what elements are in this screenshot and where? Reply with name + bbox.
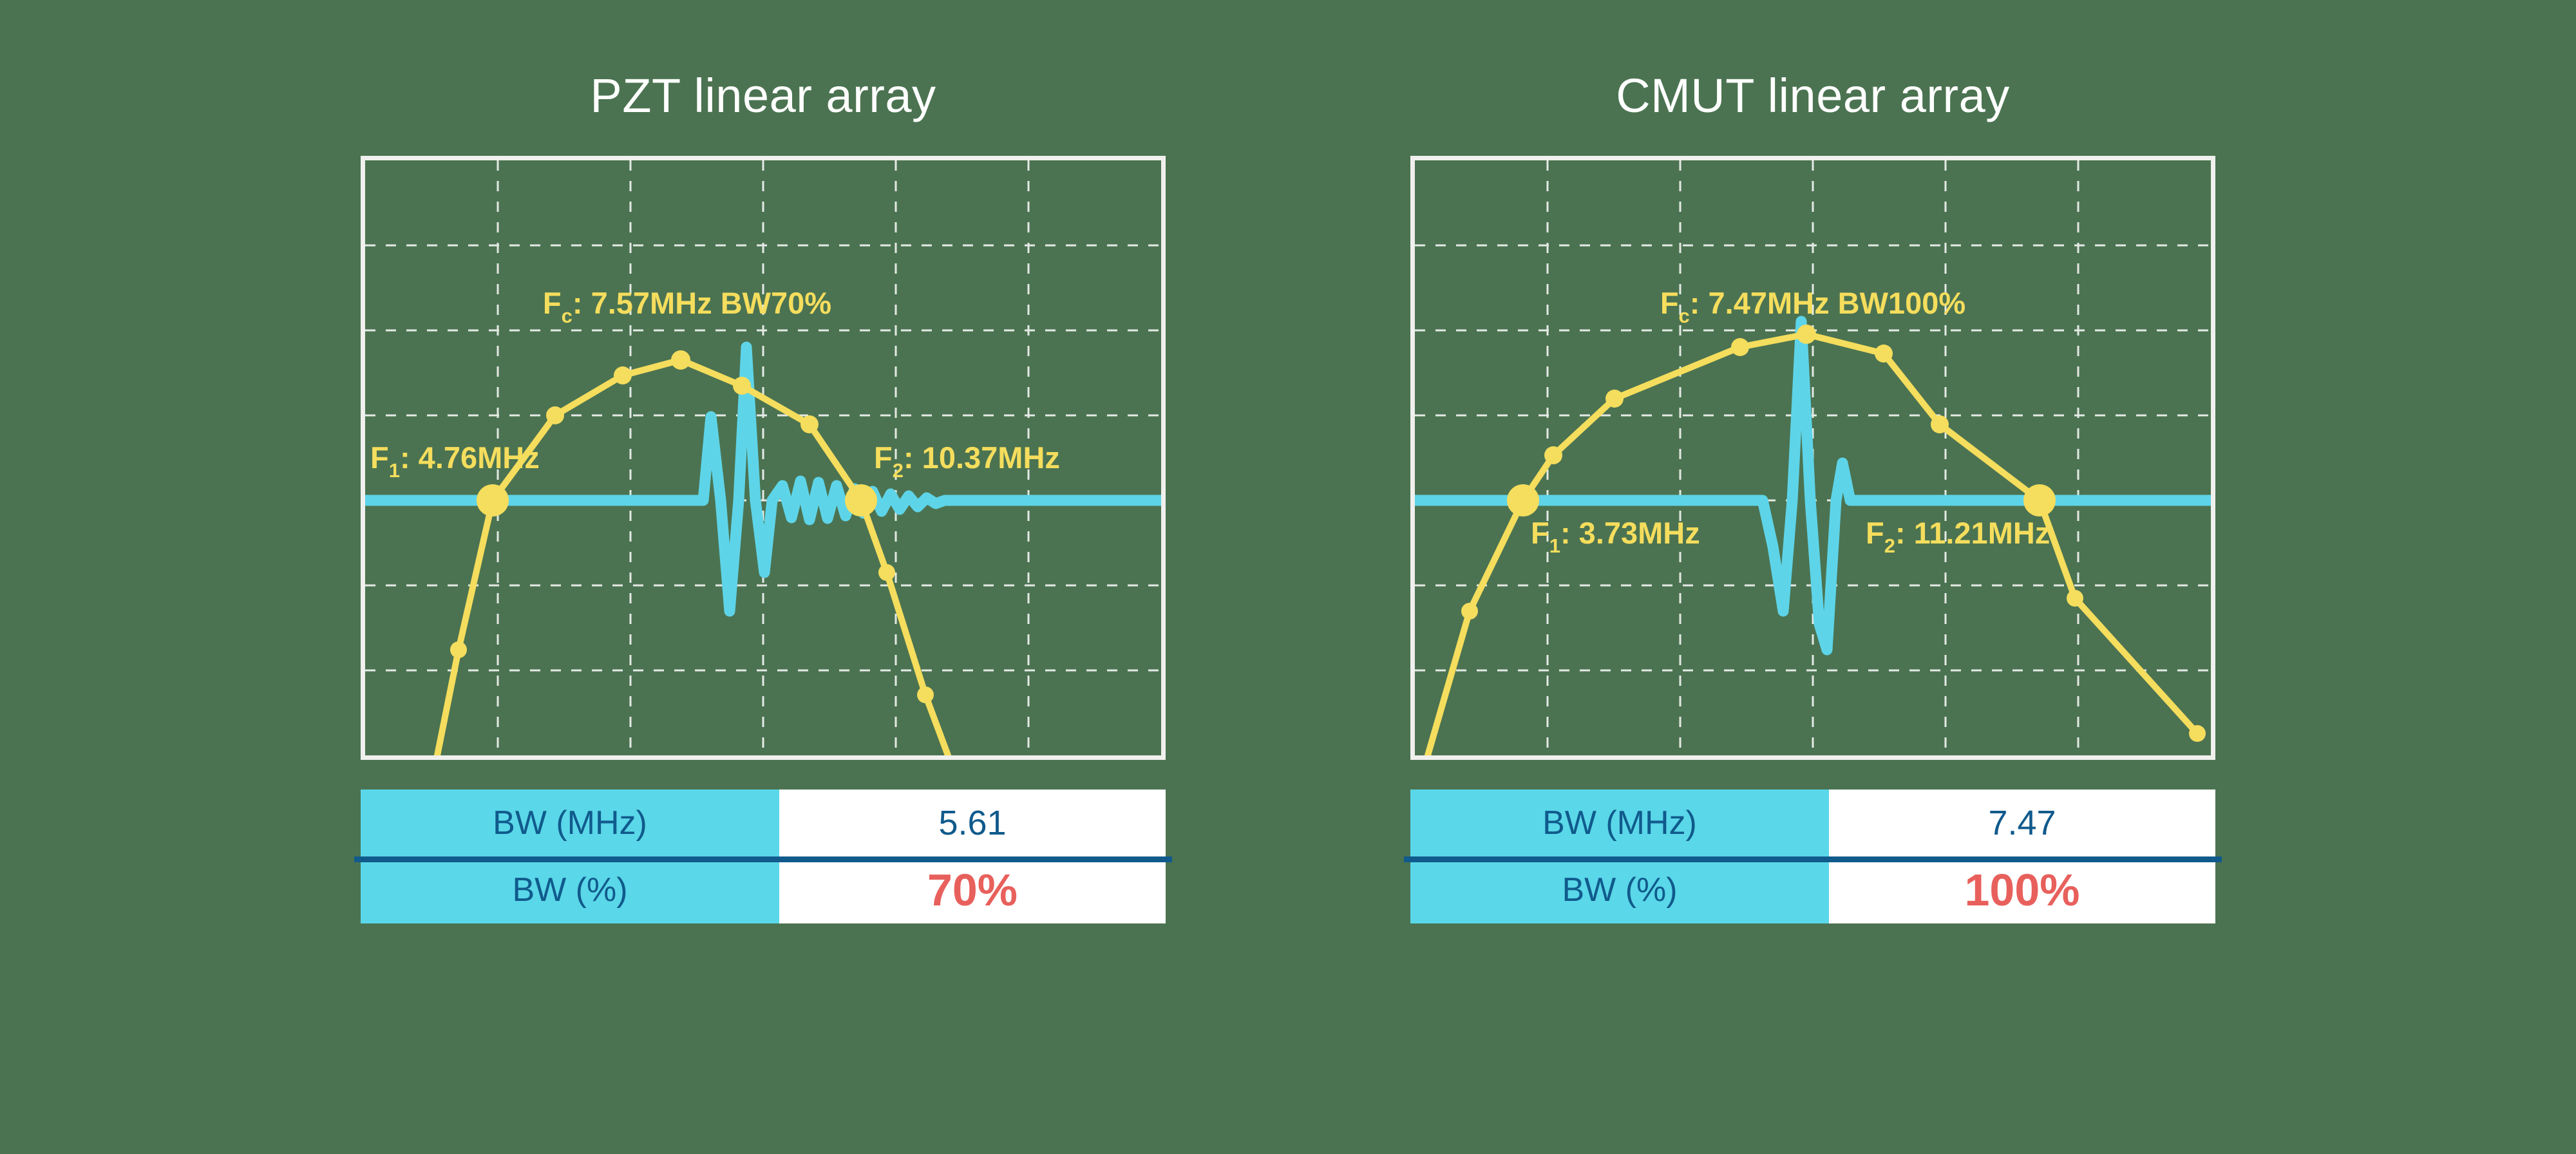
bw-table-wrap-cmut: BW (MHz) 7.47 BW (%) 100% bbox=[1410, 790, 2215, 923]
table-header-bw-pct: BW (%) bbox=[1410, 856, 1829, 923]
annotation-fc-pzt: Fc: 7.57MHz BW70% bbox=[543, 286, 831, 327]
plot-pzt: Fc: 7.57MHz BW70% F1: 4.76MHz F2: 10.37M… bbox=[361, 156, 1166, 760]
table-value-bw-mhz: 5.61 bbox=[779, 790, 1166, 856]
plot-svg-cmut: Fc: 7.47MHz BW100% F1: 3.73MHz F2: 11.21… bbox=[1415, 160, 2211, 755]
curve-markers-pzt bbox=[450, 350, 934, 703]
table-row: BW (%) 100% bbox=[1410, 856, 2215, 923]
comparison-panels: PZT linear array bbox=[0, 0, 2576, 1154]
table-row: BW (MHz) 5.61 bbox=[361, 790, 1166, 856]
table-header-bw-mhz: BW (MHz) bbox=[361, 790, 779, 856]
annotation-fc-cmut: Fc: 7.47MHz BW100% bbox=[1660, 286, 1965, 327]
table-value-bw-mhz: 7.47 bbox=[1829, 790, 2215, 856]
table-header-bw-mhz: BW (MHz) bbox=[1410, 790, 1829, 856]
annotation-f1-cmut: F1: 3.73MHz bbox=[1531, 516, 1700, 557]
plot-cmut: Fc: 7.47MHz BW100% F1: 3.73MHz F2: 11.21… bbox=[1410, 156, 2215, 760]
table-value-bw-pct: 100% bbox=[1829, 856, 2215, 923]
table-value-bw-pct: 70% bbox=[779, 856, 1166, 923]
panel-title-cmut: CMUT linear array bbox=[1397, 72, 2228, 120]
bw-table-wrap-pzt: BW (MHz) 5.61 BW (%) 70% bbox=[361, 790, 1166, 923]
annotation-f2-pzt: F2: 10.37MHz bbox=[874, 440, 1060, 482]
table-row: BW (MHz) 7.47 bbox=[1410, 790, 2215, 856]
annotation-f2-cmut: F2: 11.21MHz bbox=[1866, 516, 2050, 557]
table-divider bbox=[354, 856, 1172, 862]
table-divider bbox=[1404, 856, 2222, 862]
panel-title-pzt: PZT linear array bbox=[348, 72, 1179, 120]
table-header-bw-pct: BW (%) bbox=[361, 856, 779, 923]
frequency-response-curve-pzt bbox=[437, 360, 948, 755]
plot-svg-pzt: Fc: 7.57MHz BW70% F1: 4.76MHz F2: 10.37M… bbox=[365, 160, 1161, 755]
panel-cmut: CMUT linear array bbox=[1397, 0, 2228, 1154]
panel-pzt: PZT linear array bbox=[348, 0, 1179, 1154]
table-row: BW (%) 70% bbox=[361, 856, 1166, 923]
